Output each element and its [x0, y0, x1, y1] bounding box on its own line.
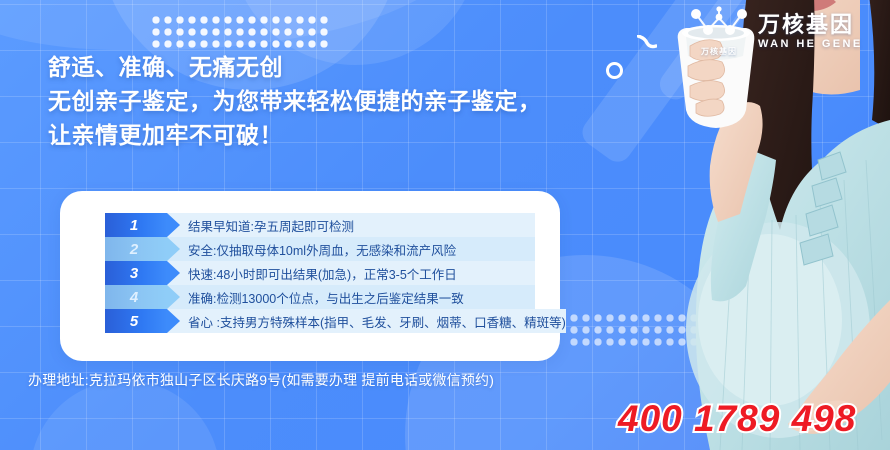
- logo-wordmark: 万核基因 WAN HE GENE: [758, 13, 863, 50]
- phone-number[interactable]: 400 1789 498: [618, 398, 856, 440]
- feature-row: 2 安全:仅抽取母体10ml外周血，无感染和流产风险: [105, 237, 535, 261]
- feature-text: 安全:仅抽取母体10ml外周血，无感染和流产风险: [167, 237, 535, 261]
- dot-grid-icon: [150, 14, 330, 50]
- feature-text: 结果早知道:孕五周起即可检测: [167, 213, 535, 237]
- pregnant-woman-photo: [560, 0, 890, 450]
- headline: 舒适、准确、无痛无创 无创亲子鉴定，为您带来轻松便捷的亲子鉴定， 让亲情更加牢不…: [48, 50, 542, 152]
- logo-name-cn: 万核基因: [758, 13, 863, 36]
- address-text: 办理地址:克拉玛依市独山子区长庆路9号(如需要办理 提前电话或微信预约): [28, 370, 494, 390]
- molecule-network-icon: [688, 6, 750, 40]
- feature-text: 省心 :支持男方特殊样本(指甲、毛发、牙刷、烟蒂、口香糖、精斑等): [167, 309, 566, 333]
- feature-number-badge: 3: [105, 261, 167, 285]
- feature-number-badge: 2: [105, 237, 167, 261]
- feature-text: 准确:检测13000个位点，与出生之后鉴定结果一致: [167, 285, 535, 309]
- feature-row: 1 结果早知道:孕五周起即可检测: [105, 213, 535, 237]
- feature-panel: 1 结果早知道:孕五周起即可检测 2 安全:仅抽取母体10ml外周血，无感染和流…: [60, 191, 560, 361]
- feature-number-badge: 1: [105, 213, 167, 237]
- logo-name-en: WAN HE GENE: [758, 38, 863, 50]
- feature-number-badge: 4: [105, 285, 167, 309]
- logo-mark-subtext: 万核基因: [688, 46, 750, 57]
- headline-line-1: 舒适、准确、无痛无创: [48, 50, 542, 84]
- headline-line-3: 让亲情更加牢不可破！: [48, 118, 542, 152]
- promo-banner: 万核基因 万核基因 WAN HE GENE 舒适、准确、无痛无创 无创亲子鉴定，…: [0, 0, 890, 450]
- headline-line-2: 无创亲子鉴定，为您带来轻松便捷的亲子鉴定，: [48, 84, 542, 118]
- logo-mark: 万核基因: [688, 6, 750, 57]
- brand-logo[interactable]: 万核基因 万核基因 WAN HE GENE: [688, 6, 863, 57]
- feature-row: 5 省心 :支持男方特殊样本(指甲、毛发、牙刷、烟蒂、口香糖、精斑等): [105, 309, 535, 333]
- feature-number-badge: 5: [105, 309, 167, 333]
- feature-list: 1 结果早知道:孕五周起即可检测 2 安全:仅抽取母体10ml外周血，无感染和流…: [105, 213, 535, 333]
- feature-row: 4 准确:检测13000个位点，与出生之后鉴定结果一致: [105, 285, 535, 309]
- feature-text: 快速:48小时即可出结果(加急)，正常3-5个工作日: [167, 261, 535, 285]
- feature-row: 3 快速:48小时即可出结果(加急)，正常3-5个工作日: [105, 261, 535, 285]
